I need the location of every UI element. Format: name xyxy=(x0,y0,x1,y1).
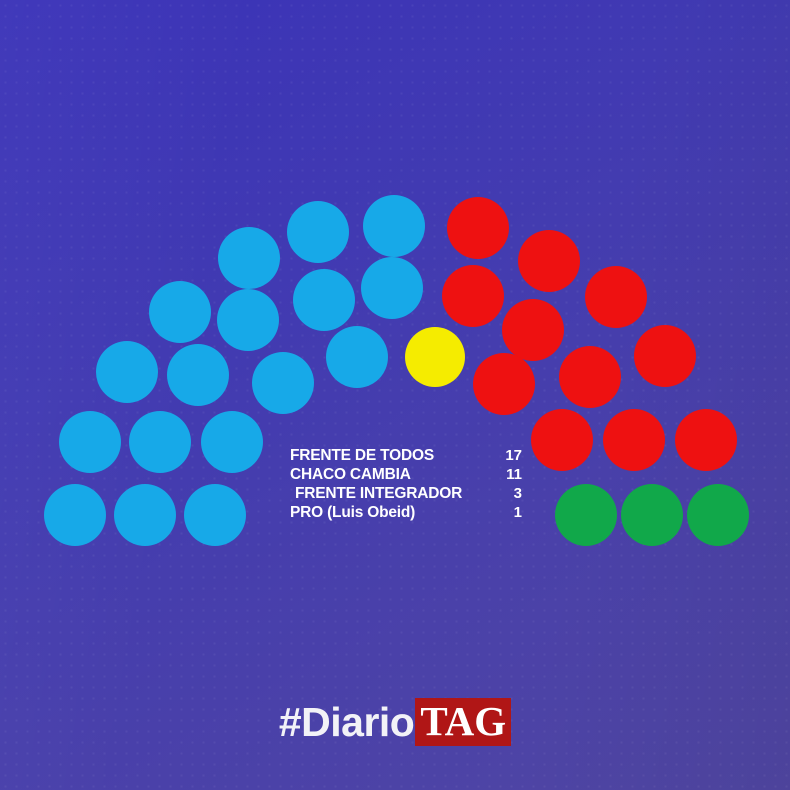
seat-circle xyxy=(675,409,737,471)
seat-circle xyxy=(129,411,191,473)
legend-label: FRENTE DE TODOS xyxy=(290,446,434,465)
legend-label: FRENTE INTEGRADOR xyxy=(295,484,462,503)
legend-label: PRO (Luis Obeid) xyxy=(290,503,415,522)
seat-circle xyxy=(621,484,683,546)
seat-circle xyxy=(361,257,423,319)
seat-circle xyxy=(585,266,647,328)
seat-circle xyxy=(634,325,696,387)
watermark-tag-badge: TAG xyxy=(415,698,511,746)
seat-circle xyxy=(184,484,246,546)
seat-circle xyxy=(555,484,617,546)
legend: FRENTE DE TODOS 17 CHACO CAMBIA 11 FRENT… xyxy=(290,446,522,522)
seat-circle xyxy=(687,484,749,546)
seat-circle xyxy=(442,265,504,327)
seat-circle xyxy=(201,411,263,473)
seat-circle xyxy=(531,409,593,471)
seat-circle xyxy=(603,409,665,471)
parliament-seat-chart xyxy=(0,0,790,790)
seat-circle xyxy=(473,353,535,415)
legend-value: 11 xyxy=(500,465,522,484)
seat-circle xyxy=(502,299,564,361)
watermark: #Diario TAG xyxy=(0,698,790,746)
seat-circle xyxy=(59,411,121,473)
seat-circle xyxy=(326,326,388,388)
watermark-hash-text: #Diario xyxy=(279,699,415,745)
seat-circle xyxy=(44,484,106,546)
legend-value: 1 xyxy=(500,503,522,522)
seat-circle xyxy=(217,289,279,351)
legend-row: PRO (Luis Obeid) 1 xyxy=(290,503,522,522)
seat-circle xyxy=(363,195,425,257)
seat-circle xyxy=(405,327,465,387)
legend-label: CHACO CAMBIA xyxy=(290,465,411,484)
legend-row: FRENTE DE TODOS 17 xyxy=(290,446,522,465)
seat-circle xyxy=(287,201,349,263)
seat-circle xyxy=(293,269,355,331)
seat-circle xyxy=(218,227,280,289)
seat-circle xyxy=(518,230,580,292)
legend-row: CHACO CAMBIA 11 xyxy=(290,465,522,484)
seat-circle xyxy=(447,197,509,259)
seat-circle xyxy=(114,484,176,546)
seat-circle xyxy=(149,281,211,343)
legend-value: 3 xyxy=(500,484,522,503)
infographic-canvas: FRENTE DE TODOS 17 CHACO CAMBIA 11 FRENT… xyxy=(0,0,790,790)
seat-circle xyxy=(559,346,621,408)
seat-circle xyxy=(167,344,229,406)
seat-circle xyxy=(96,341,158,403)
seat-circle xyxy=(252,352,314,414)
legend-value: 17 xyxy=(500,446,522,465)
legend-row: FRENTE INTEGRADOR 3 xyxy=(290,484,522,503)
